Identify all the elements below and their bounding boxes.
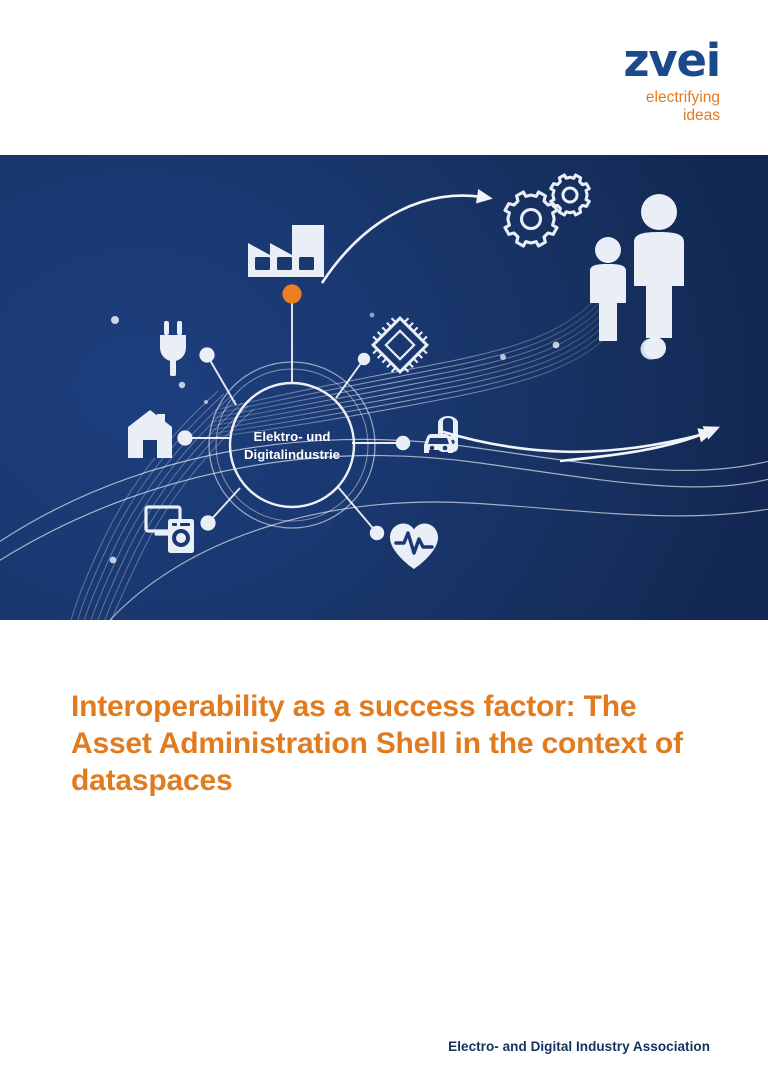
network-curves bbox=[0, 439, 768, 620]
node-plug bbox=[199, 347, 214, 362]
microchip-icon bbox=[365, 310, 436, 381]
hub-rings bbox=[209, 362, 375, 528]
accent-dot bbox=[282, 284, 301, 303]
person-dot-icon bbox=[644, 337, 666, 359]
node-health bbox=[370, 526, 384, 540]
arrow-curved-lower-icon bbox=[560, 431, 710, 461]
node-chip bbox=[358, 353, 370, 365]
page-footer: Electro- and Digital Industry Associatio… bbox=[0, 1038, 768, 1056]
zvei-logo[interactable]: zvei electrifying ideas bbox=[623, 38, 720, 124]
hub-spokes bbox=[185, 295, 403, 533]
logo-tagline: electrifying ideas bbox=[623, 89, 720, 124]
hero-illustration: Elektro- und Digitalindustrie bbox=[0, 155, 768, 620]
hero-banner: Elektro- und Digitalindustrie bbox=[0, 155, 768, 620]
node-mobility bbox=[396, 436, 410, 450]
logo-tagline-line2: ideas bbox=[623, 107, 720, 125]
person-large-icon bbox=[634, 194, 684, 338]
factory-icon bbox=[248, 225, 324, 277]
node-appliance bbox=[200, 515, 215, 530]
house-icon bbox=[128, 410, 172, 458]
heart-pulse-icon bbox=[390, 524, 438, 570]
arrow-curved-upper-icon bbox=[322, 196, 482, 283]
hub-label-line2: Digitalindustrie bbox=[244, 447, 340, 462]
gear-large-icon bbox=[505, 192, 557, 246]
node-house bbox=[177, 430, 192, 445]
person-small-icon bbox=[590, 237, 626, 341]
hub-label-line1: Elektro- und bbox=[254, 429, 331, 444]
logo-tagline-line1: electrifying bbox=[646, 89, 720, 106]
power-plug-icon bbox=[160, 321, 186, 376]
page-header: zvei electrifying ideas bbox=[0, 0, 768, 155]
logo-wordmark: zvei bbox=[623, 38, 720, 83]
organisation-name: Electro- and Digital Industry Associatio… bbox=[448, 1039, 710, 1054]
page-title: Interoperability as a success factor: Th… bbox=[71, 688, 711, 800]
monitor-appliance-icon bbox=[146, 507, 194, 553]
title-section: Interoperability as a success factor: Th… bbox=[71, 688, 711, 800]
